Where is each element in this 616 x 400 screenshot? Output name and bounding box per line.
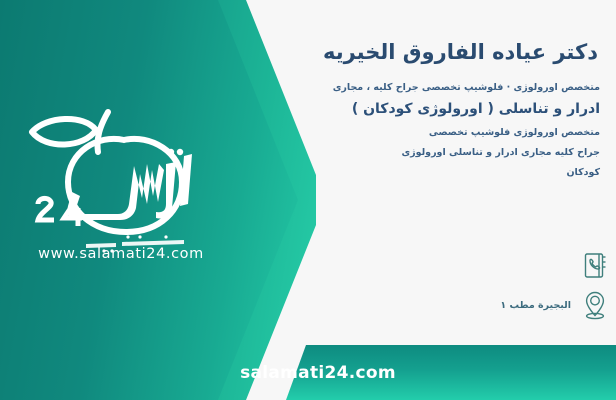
description-line-5: کودکان (260, 165, 600, 181)
map-pin-icon (580, 289, 610, 321)
description-line-1: متخصص اورولوژی · فلوشیپ تخصصی جراح کلیه … (260, 81, 600, 96)
description-line-3: متخصص اورولوژی فلوشیپ تخصصی (260, 125, 600, 141)
description-line-2: ادرار و تناسلی ( اورولوژی کودکان ) (260, 98, 600, 120)
contact-row-address[interactable]: البجيرة مطب ١ (270, 288, 610, 322)
contact-address-text: البجيرة مطب ١ (500, 300, 571, 311)
footer-website-url[interactable]: salamati24.com (0, 345, 616, 400)
logo-website-url: www.salamati24.com (16, 246, 226, 262)
contact-info-list: البجيرة مطب ١ (270, 248, 610, 328)
phone-book-icon (580, 249, 610, 281)
contact-row-phone[interactable] (270, 248, 610, 282)
clinic-description: متخصص اورولوژی · فلوشیپ تخصصی جراح کلیه … (260, 81, 600, 181)
footer-bar: salamati24.com (0, 345, 616, 400)
page-title: دکتر عیاده الفاروق الخیریه (260, 38, 598, 67)
business-card: www.salamati24.com دکتر عیاده الفاروق ال… (0, 0, 616, 400)
description-line-4: جراح کلیه مجاری ادرار و تناسلی اورولوژی (260, 145, 600, 161)
